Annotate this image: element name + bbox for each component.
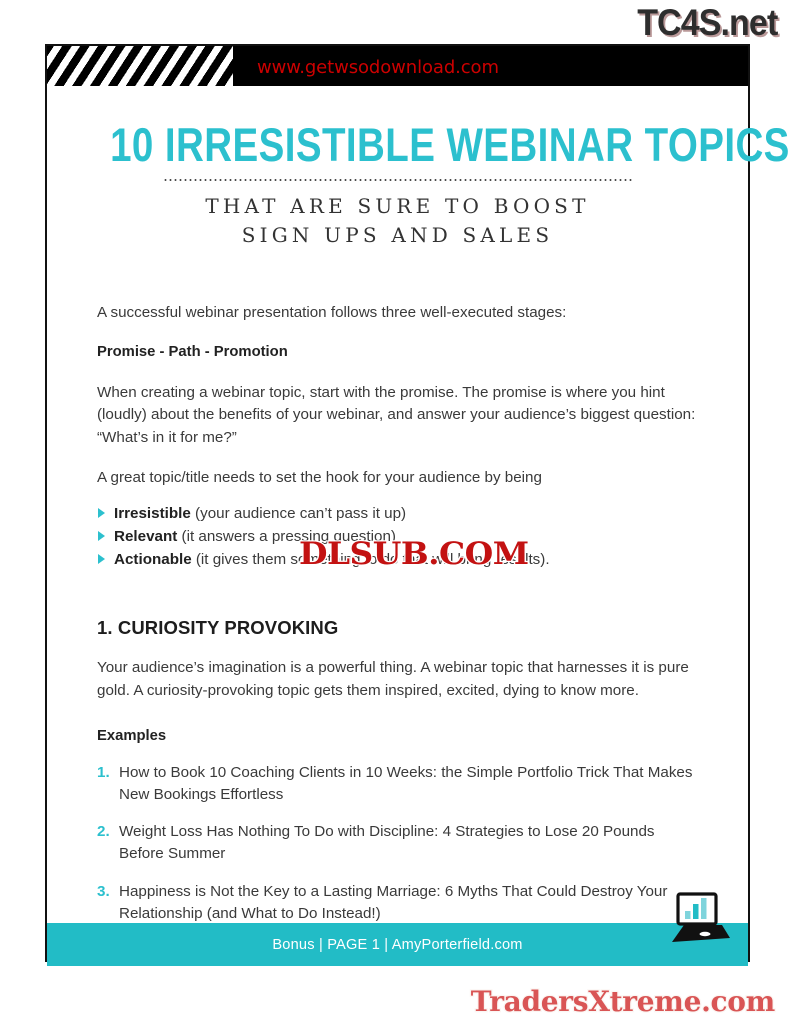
footer-text: Bonus | PAGE 1 | AmyPorterfield.com bbox=[272, 937, 522, 953]
triangle-bullet-icon bbox=[98, 508, 105, 518]
list-item-number: 1. bbox=[97, 762, 110, 784]
watermark-header-url: www.getwsodownload.com bbox=[257, 57, 499, 78]
subtitle-line-1: THAT ARE SURE TO BOOST bbox=[47, 192, 748, 220]
section-heading: 1. CURIOSITY PROVOKING bbox=[97, 614, 697, 641]
header-black-bar: www.getwsodownload.com bbox=[47, 46, 748, 86]
examples-label: Examples bbox=[97, 726, 697, 748]
page-subtitle: THAT ARE SURE TO BOOST SIGN UPS AND SALE… bbox=[47, 192, 748, 249]
page-footer: Bonus | PAGE 1 | AmyPorterfield.com bbox=[47, 923, 748, 966]
list-item: Irresistible (your audience can’t pass i… bbox=[97, 503, 697, 525]
intro-paragraph: A successful webinar presentation follow… bbox=[97, 302, 697, 324]
trait-name: Irresistible bbox=[114, 505, 191, 522]
trait-name: Relevant bbox=[114, 528, 177, 545]
triangle-bullet-icon bbox=[98, 554, 105, 564]
laptop-chart-logo-icon bbox=[664, 892, 734, 954]
list-item-text: How to Book 10 Coaching Clients in 10 We… bbox=[119, 764, 692, 803]
list-item-number: 2. bbox=[97, 821, 110, 843]
list-item-number: 3. bbox=[97, 881, 110, 903]
examples-list: 1. How to Book 10 Coaching Clients in 10… bbox=[97, 762, 697, 925]
diagonal-stripes-decoration bbox=[47, 46, 233, 86]
watermark-tradersxtreme: TradersXtreme.com bbox=[471, 985, 775, 1018]
title-block: 10 IRRESISTIBLE WEBINAR TOPICS THAT ARE … bbox=[47, 120, 748, 249]
list-item-text: Weight Loss Has Nothing To Do with Disci… bbox=[119, 823, 655, 862]
document-page: www.getwsodownload.com 10 IRRESISTIBLE W… bbox=[45, 44, 750, 962]
subtitle-line-2: SIGN UPS AND SALES bbox=[47, 221, 748, 249]
list-item-text: Happiness is Not the Key to a Lasting Ma… bbox=[119, 883, 667, 922]
trait-detail: (your audience can’t pass it up) bbox=[191, 505, 406, 522]
list-item: 1. How to Book 10 Coaching Clients in 10… bbox=[97, 762, 697, 806]
list-item: 3. Happiness is Not the Key to a Lasting… bbox=[97, 881, 697, 925]
stages-line: Promise - Path - Promotion bbox=[97, 342, 697, 364]
hook-paragraph: A great topic/title needs to set the hoo… bbox=[97, 467, 697, 489]
watermark-tc4s: TC4S.net bbox=[637, 2, 777, 44]
triangle-bullet-icon bbox=[98, 531, 105, 541]
section-paragraph: Your audience’s imagination is a powerfu… bbox=[97, 657, 697, 702]
page-title: 10 IRRESISTIBLE WEBINAR TOPICS bbox=[110, 120, 685, 169]
watermark-dlsub: DLSUB.COM bbox=[299, 536, 529, 572]
promise-paragraph: When creating a webinar topic, start wit… bbox=[97, 382, 697, 449]
dotted-divider bbox=[163, 179, 633, 181]
document-body: A successful webinar presentation follow… bbox=[97, 302, 697, 940]
list-item: 2. Weight Loss Has Nothing To Do with Di… bbox=[97, 821, 697, 865]
trait-name: Actionable bbox=[114, 551, 192, 568]
